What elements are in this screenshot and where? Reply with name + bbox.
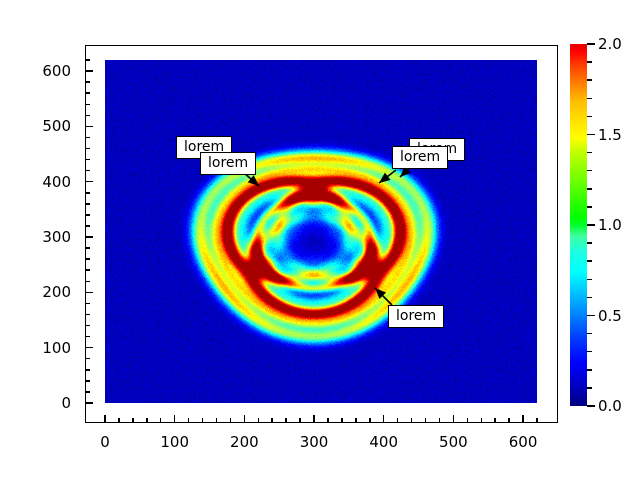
x-tick-major: [522, 415, 524, 423]
heatmap-canvas: [105, 60, 537, 403]
y-tick-minor: [85, 104, 90, 106]
colorbar-tick-minor: [587, 170, 592, 172]
y-tick-minor: [85, 225, 90, 227]
colorbar-tick-minor: [587, 152, 592, 154]
colorbar-tick-major: [587, 224, 595, 226]
y-tick-minor: [85, 92, 90, 94]
x-tick-minor: [132, 418, 134, 423]
y-tick-minor: [85, 380, 90, 382]
colorbar-tick-label: 0.0: [598, 399, 622, 414]
x-tick-label: 600: [509, 435, 538, 450]
x-tick-minor: [355, 418, 357, 423]
colorbar-tick-minor: [587, 387, 592, 389]
x-tick-minor: [118, 418, 120, 423]
y-tick-minor: [85, 148, 90, 150]
colorbar-tick-minor: [587, 206, 592, 208]
y-tick-minor: [85, 203, 90, 205]
annotation-callout[interactable]: lorem: [392, 146, 448, 169]
x-tick-major: [313, 415, 315, 423]
y-tick-minor: [85, 214, 90, 216]
colorbar-tick-major: [587, 134, 595, 136]
colorbar-tick-minor: [587, 279, 592, 281]
annotation-callout[interactable]: lorem: [200, 152, 256, 175]
x-tick-minor: [146, 418, 148, 423]
x-tick-label: 300: [300, 435, 329, 450]
x-tick-major: [174, 415, 176, 423]
x-tick-label: 100: [160, 435, 189, 450]
y-tick-minor: [85, 170, 90, 172]
colorbar-tick-label: 0.5: [598, 309, 622, 324]
x-tick-minor: [411, 418, 413, 423]
figure-canvas: 01002003004005006000100200300400500600 0…: [0, 0, 640, 480]
x-tick-minor: [341, 418, 343, 423]
colorbar-tick-minor: [587, 116, 592, 118]
x-tick-minor: [202, 418, 204, 423]
x-tick-major: [453, 415, 455, 423]
x-tick-minor: [188, 418, 190, 423]
x-tick-minor: [216, 418, 218, 423]
x-tick-minor: [481, 418, 483, 423]
y-tick-minor: [85, 391, 90, 393]
x-tick-major: [244, 415, 246, 423]
colorbar-gradient: [570, 44, 587, 406]
y-tick-label: 0: [0, 396, 71, 411]
y-tick-minor: [85, 325, 90, 327]
colorbar-tick-label: 2.0: [598, 37, 622, 52]
y-tick-minor: [85, 81, 90, 83]
y-tick-major: [85, 236, 93, 238]
y-tick-major: [85, 126, 93, 128]
colorbar-tick-minor: [587, 242, 592, 244]
colorbar-tick-minor: [587, 188, 592, 190]
colorbar-tick-minor: [587, 333, 592, 335]
y-tick-label: 500: [0, 119, 71, 134]
y-tick-major: [85, 181, 93, 183]
x-tick-minor: [271, 418, 273, 423]
x-tick-minor: [285, 418, 287, 423]
y-tick-minor: [85, 159, 90, 161]
x-tick-minor: [536, 418, 538, 423]
annotation-callout[interactable]: lorem: [388, 305, 444, 328]
y-tick-major: [85, 292, 93, 294]
x-tick-label: 200: [230, 435, 259, 450]
x-tick-label: 500: [439, 435, 468, 450]
x-tick-minor: [327, 418, 329, 423]
y-tick-major: [85, 347, 93, 349]
x-tick-minor: [258, 418, 260, 423]
colorbar-tick-major: [587, 405, 595, 407]
x-tick-minor: [494, 418, 496, 423]
x-tick-label: 400: [369, 435, 398, 450]
y-tick-minor: [85, 269, 90, 271]
y-tick-minor: [85, 247, 90, 249]
colorbar-tick-minor: [587, 351, 592, 353]
colorbar-tick-minor: [587, 98, 592, 100]
y-tick-label: 300: [0, 230, 71, 245]
y-tick-label: 600: [0, 64, 71, 79]
y-tick-minor: [85, 369, 90, 371]
x-tick-major: [383, 415, 385, 423]
colorbar-tick-minor: [587, 61, 592, 63]
colorbar: [570, 44, 587, 406]
y-tick-major: [85, 70, 93, 72]
heatmap-image: [105, 60, 537, 403]
colorbar-tick-minor: [587, 79, 592, 81]
x-tick-minor: [299, 418, 301, 423]
x-tick-minor: [369, 418, 371, 423]
colorbar-tick-label: 1.5: [598, 128, 622, 143]
y-tick-minor: [85, 59, 90, 61]
x-tick-label: 0: [100, 435, 110, 450]
x-tick-minor: [439, 418, 441, 423]
colorbar-tick-major: [587, 315, 595, 317]
y-tick-minor: [85, 281, 90, 283]
colorbar-tick-minor: [587, 369, 592, 371]
y-tick-label: 100: [0, 341, 71, 356]
y-tick-minor: [85, 115, 90, 117]
y-tick-major: [85, 402, 93, 404]
x-tick-minor: [230, 418, 232, 423]
y-tick-label: 200: [0, 285, 71, 300]
y-tick-minor: [85, 303, 90, 305]
x-tick-minor: [160, 418, 162, 423]
y-tick-minor: [85, 336, 90, 338]
y-tick-minor: [85, 192, 90, 194]
x-tick-minor: [397, 418, 399, 423]
x-tick-major: [104, 415, 106, 423]
x-tick-minor: [467, 418, 469, 423]
colorbar-tick-minor: [587, 297, 592, 299]
x-tick-minor: [508, 418, 510, 423]
colorbar-tick-label: 1.0: [598, 218, 622, 233]
colorbar-tick-minor: [587, 260, 592, 262]
y-tick-minor: [85, 314, 90, 316]
y-tick-label: 400: [0, 175, 71, 190]
y-tick-minor: [85, 258, 90, 260]
y-tick-minor: [85, 137, 90, 139]
colorbar-tick-major: [587, 43, 595, 45]
y-tick-minor: [85, 358, 90, 360]
x-tick-minor: [425, 418, 427, 423]
